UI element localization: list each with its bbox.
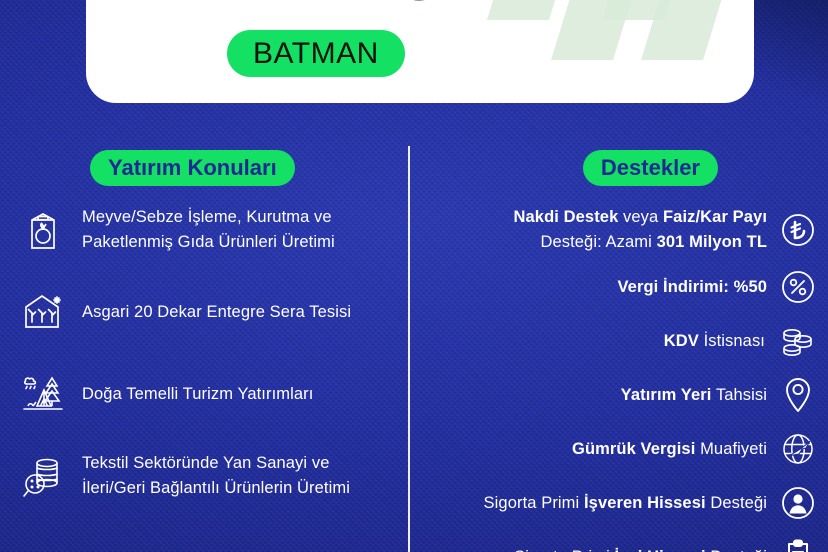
column-divider bbox=[408, 146, 410, 552]
list-item: Tekstil Sektöründe Yan Sanayi ve İleri/G… bbox=[18, 446, 393, 506]
globe-airplane-icon bbox=[780, 431, 816, 467]
list-item-label: Gümrük Vergisi Muafiyeti bbox=[572, 437, 767, 462]
support-text-plain: İstisnası bbox=[699, 332, 765, 350]
support-text-bold-a: Nakdi Destek bbox=[514, 208, 619, 226]
list-item: Vergi İndirimi: %50 bbox=[426, 265, 816, 309]
support-text-plain: Muafiyeti bbox=[695, 440, 767, 458]
list-item-label: Doğa Temelli Turizm Yatırımları bbox=[82, 382, 313, 407]
support-text-bold: Gümrük Vergisi bbox=[572, 440, 695, 458]
support-text-prefix: Sigorta Primi bbox=[484, 494, 584, 512]
list-item-label: Meyve/Sebze İşleme, Kurutma ve Paketlenm… bbox=[82, 205, 393, 255]
list-item: Sigorta Primi İşveren Hissesi Desteği bbox=[426, 481, 816, 525]
clipboard-check-icon bbox=[780, 539, 816, 552]
list-item: Yatırım Yeri Tahsisi bbox=[426, 373, 816, 417]
person-circle-icon bbox=[780, 485, 816, 521]
thread-spool-icon bbox=[18, 451, 68, 501]
list-item-label: Vergi İndirimi: %50 bbox=[617, 275, 767, 300]
list-item: Asgari 20 Dekar Entegre Sera Tesisi bbox=[18, 282, 393, 342]
list-item-label: Yatırım Yeri Tahsisi bbox=[621, 383, 767, 408]
section-heading-supports: Destekler bbox=[583, 150, 718, 186]
section-heading-investment-topics: Yatırım Konuları bbox=[90, 150, 295, 186]
support-text-bold: KDV bbox=[664, 332, 699, 350]
support-text-prefix: Sigorta Primi bbox=[514, 548, 614, 552]
juice-carton-icon bbox=[18, 205, 68, 255]
support-text-plain-b: Desteği: Azami bbox=[540, 233, 656, 251]
support-text-plain: Desteği bbox=[706, 494, 767, 512]
support-text-plain-a: veya bbox=[618, 208, 663, 226]
percent-circle-icon bbox=[780, 269, 816, 305]
tt-logo-watermark-4 bbox=[641, 0, 749, 60]
support-text-bold-c: 301 Milyon TL bbox=[657, 233, 767, 251]
camping-nature-icon bbox=[18, 369, 68, 419]
supports-list: Nakdi Destek veya Faiz/Kar Payı Desteği:… bbox=[426, 205, 816, 552]
poster-canvas: HAMLESİ BATMAN Yatırım Konuları Destekle… bbox=[0, 0, 828, 552]
page-title: HAMLESİ bbox=[116, 0, 536, 9]
investment-topics-list: Meyve/Sebze İşleme, Kurutma ve Paketlenm… bbox=[18, 200, 393, 528]
list-item: Gümrük Vergisi Muafiyeti bbox=[426, 427, 816, 471]
map-pin-icon bbox=[780, 377, 816, 413]
list-item: Meyve/Sebze İşleme, Kurutma ve Paketlenm… bbox=[18, 200, 393, 260]
list-item-label: Asgari 20 Dekar Entegre Sera Tesisi bbox=[82, 300, 351, 325]
support-text-bold: İşçi Hissesi bbox=[615, 548, 706, 552]
list-item-label: Sigorta Primi İşveren Hissesi Desteği bbox=[484, 491, 767, 516]
support-text-bold-b: Faiz/Kar Payı bbox=[663, 208, 767, 226]
coins-stack-icon bbox=[778, 323, 816, 359]
support-text-plain: Desteği bbox=[706, 548, 767, 552]
greenhouse-icon bbox=[18, 287, 68, 337]
turkish-lira-circle-icon bbox=[780, 212, 816, 248]
list-item-label: Sigorta Primi İşçi Hissesi Desteği bbox=[514, 545, 767, 552]
list-item: Nakdi Destek veya Faiz/Kar Payı Desteği:… bbox=[426, 205, 816, 255]
support-text-bold: İşveren Hissesi bbox=[584, 494, 706, 512]
city-badge: BATMAN bbox=[227, 30, 405, 77]
list-item: KDV İstisnası bbox=[426, 319, 816, 363]
list-item-label: Tekstil Sektöründe Yan Sanayi ve İleri/G… bbox=[82, 451, 393, 501]
list-item-label: Nakdi Destek veya Faiz/Kar Payı Desteği:… bbox=[514, 205, 767, 255]
list-item-label: KDV İstisnası bbox=[664, 329, 765, 354]
list-item: Doğa Temelli Turizm Yatırımları bbox=[18, 364, 393, 424]
header-card: HAMLESİ BATMAN bbox=[86, 0, 754, 103]
support-text-bold: Yatırım Yeri bbox=[621, 386, 712, 404]
list-item: Sigorta Primi İşçi Hissesi Desteği bbox=[426, 535, 816, 552]
support-text-bold: Vergi İndirimi: %50 bbox=[617, 278, 767, 296]
support-text-plain: Tahsisi bbox=[711, 386, 767, 404]
